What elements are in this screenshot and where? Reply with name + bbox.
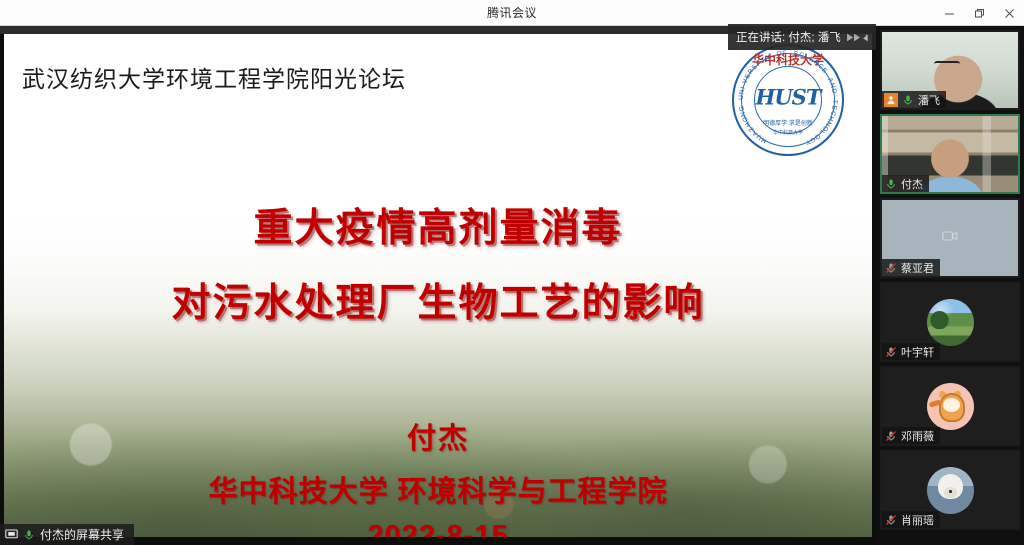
presentation-date: 2022-8-15 — [4, 520, 872, 537]
microphone-muted-icon[interactable] — [884, 261, 898, 275]
window-title: 腾讯会议 — [487, 4, 537, 21]
participant-tile[interactable]: 叶宇轩 — [880, 282, 1020, 362]
avatar — [927, 299, 974, 346]
window-titlebar: 腾讯会议 — [0, 0, 1024, 26]
camera-off-icon — [942, 229, 958, 248]
window-controls — [934, 0, 1024, 26]
participant-tile[interactable]: 蔡亚君 — [880, 198, 1020, 278]
avatar — [927, 383, 974, 430]
restore-button[interactable] — [964, 0, 994, 26]
microphone-icon — [23, 529, 35, 541]
participant-status-bar: 叶宇轩 — [882, 343, 940, 360]
share-indicator-text: 付杰的屏幕共享 — [40, 526, 124, 543]
participant-name: 叶宇轩 — [901, 344, 934, 360]
participant-status-bar: 肖丽瑶 — [882, 511, 940, 528]
participant-status-bar: 潘飞 — [882, 91, 946, 108]
slide-title-line-2: 对污水处理厂生物工艺的影响 — [4, 272, 872, 328]
presentation-slide: 武汉纺织大学环境工程学院阳光论坛 华中科技大学 HUST 明德厚学 求是创新 华… — [4, 34, 872, 537]
participant-status-bar: 付杰 — [882, 175, 929, 192]
slide-title-line-1: 重大疫情高剂量消毒 — [4, 197, 872, 253]
microphone-icon[interactable] — [884, 177, 898, 191]
microphone-icon[interactable] — [901, 93, 915, 107]
logo-english-ring-text: HUAZHONG UNIVERSITY OF SCIENCE AND TECHN… — [732, 44, 844, 156]
close-button[interactable] — [994, 0, 1024, 26]
host-badge — [884, 93, 898, 107]
participant-status-bar: 邓雨薇 — [882, 427, 940, 444]
microphone-muted-icon[interactable] — [884, 513, 898, 527]
microphone-muted-icon[interactable] — [884, 429, 898, 443]
avatar — [927, 467, 974, 514]
participant-tile[interactable]: 潘飞 — [880, 30, 1020, 110]
microphone-muted-icon[interactable] — [884, 345, 898, 359]
participant-tile[interactable]: 付杰 — [880, 114, 1020, 194]
collapse-arrows-icon[interactable] — [844, 31, 870, 44]
participant-name: 蔡亚君 — [901, 260, 934, 276]
tencent-meeting-window: 腾讯会议 武汉纺织大学环境工程学院 — [0, 0, 1024, 545]
screen-share-indicator: 付杰的屏幕共享 — [0, 524, 134, 545]
participant-name: 肖丽瑶 — [901, 512, 934, 528]
forum-title: 武汉纺织大学环境工程学院阳光论坛 — [22, 60, 406, 94]
participant-rail[interactable]: 潘飞 付杰 蔡亚君 叶宇轩 邓雨薇 肖丽瑶 — [876, 26, 1024, 545]
participant-name: 付杰 — [901, 176, 923, 192]
participant-name: 邓雨薇 — [901, 428, 934, 444]
shared-screen-stage[interactable]: 武汉纺织大学环境工程学院阳光论坛 华中科技大学 HUST 明德厚学 求是创新 华… — [0, 26, 876, 545]
screen-share-icon — [5, 528, 18, 541]
participant-name: 潘飞 — [918, 92, 940, 108]
participant-tile[interactable]: 邓雨薇 — [880, 366, 1020, 446]
participant-tile[interactable]: 肖丽瑶 — [880, 450, 1020, 530]
participant-status-bar: 蔡亚君 — [882, 259, 940, 276]
presenter-affiliation: 华中科技大学 环境科学与工程学院 — [4, 468, 872, 510]
active-speaker-text: 正在讲话: 付杰; 潘飞 — [736, 29, 841, 45]
presenter-name: 付杰 — [4, 415, 872, 457]
active-speaker-banner: 正在讲话: 付杰; 潘飞 — [728, 24, 876, 50]
hust-logo: 华中科技大学 HUST 明德厚学 求是创新 华中科技大学 HUAZHONG UN… — [732, 44, 844, 156]
minimize-button[interactable] — [934, 0, 964, 26]
